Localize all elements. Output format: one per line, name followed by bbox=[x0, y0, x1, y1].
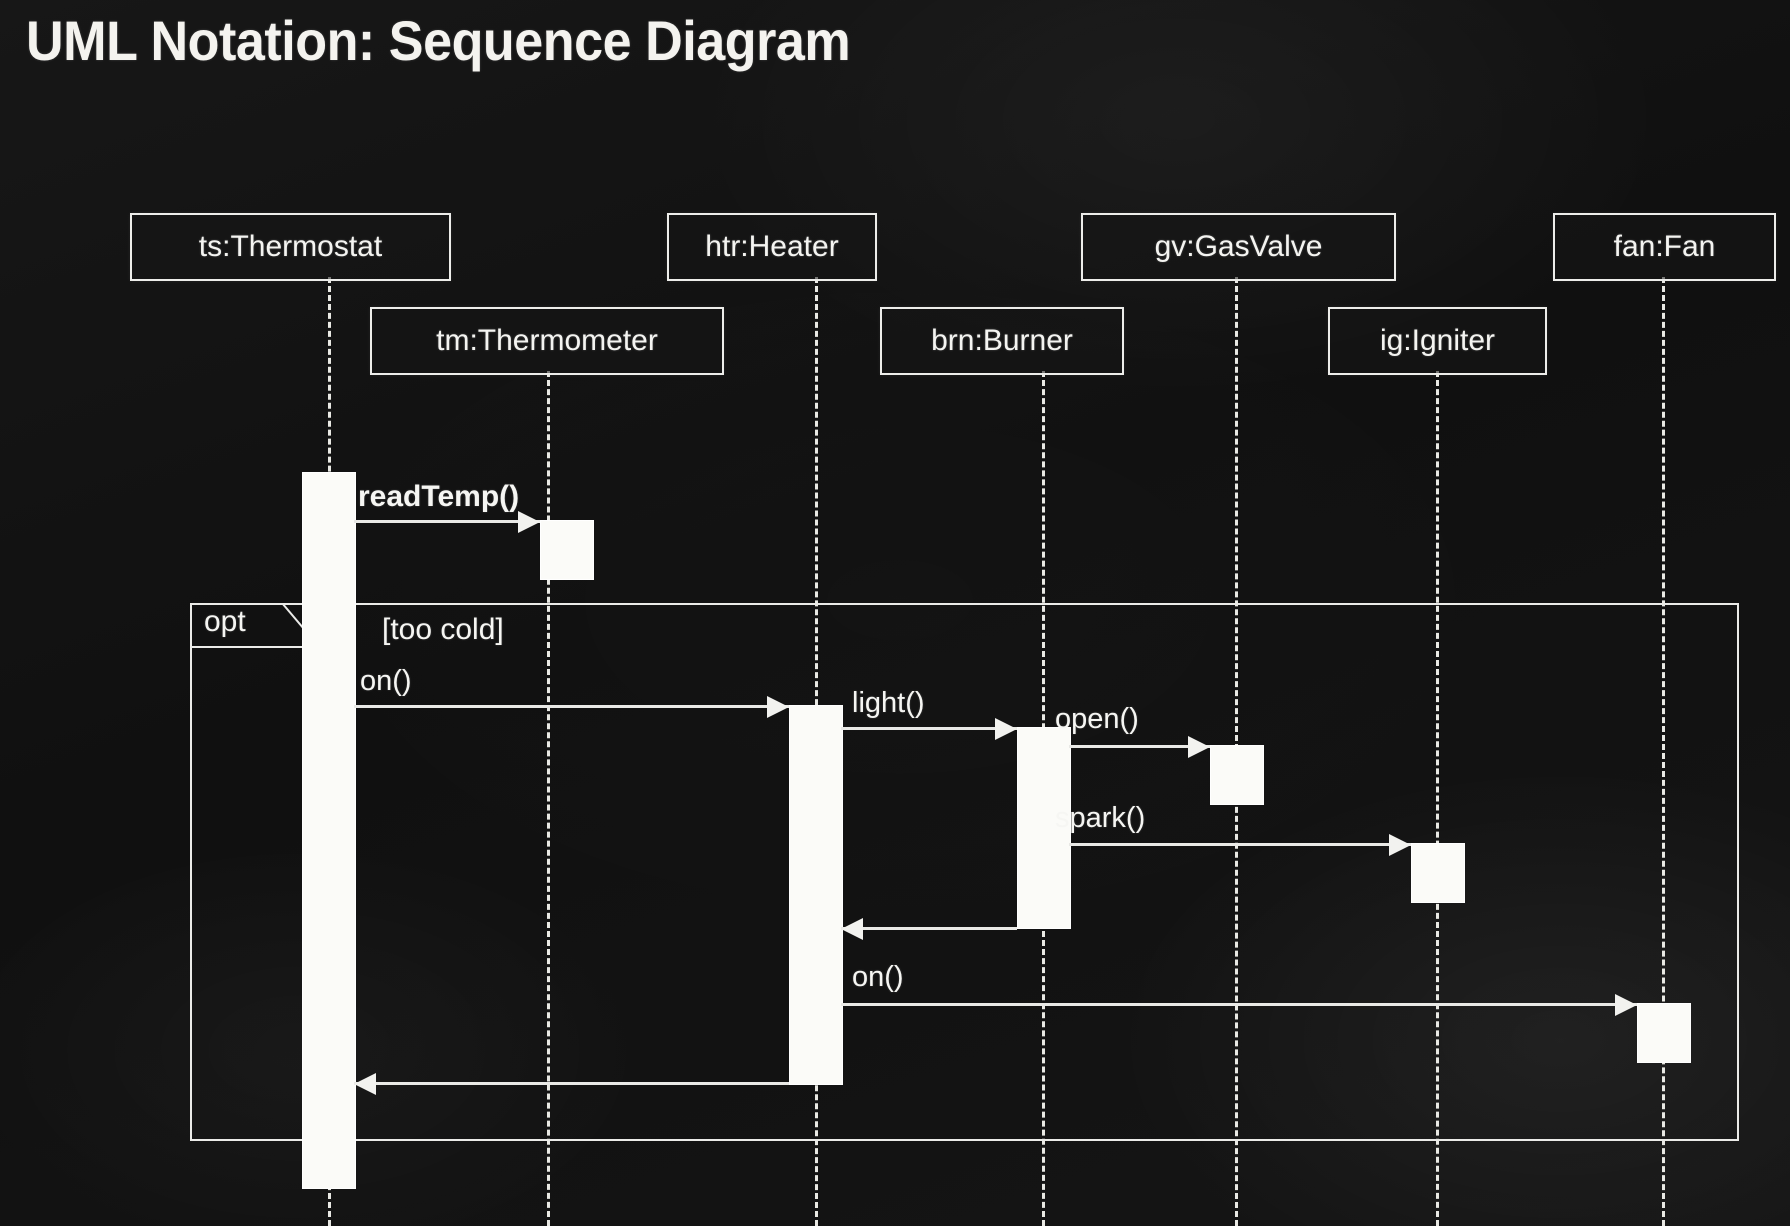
lifeline-head-fan[interactable]: fan:Fan bbox=[1553, 213, 1776, 281]
lifeline-label-gv: gv:GasValve bbox=[1155, 230, 1323, 264]
message-light-label: light() bbox=[852, 687, 925, 720]
activation-gv-open bbox=[1210, 745, 1264, 805]
message-open-arrowhead-right-icon bbox=[1188, 736, 1210, 758]
activation-ig-spark bbox=[1411, 843, 1465, 903]
lifeline-label-ts: ts:Thermostat bbox=[199, 230, 382, 264]
message-on-heater-arrowhead-right-icon bbox=[767, 696, 789, 718]
page-title: UML Notation: Sequence Diagram bbox=[26, 8, 850, 73]
lifeline-label-brn: brn:Burner bbox=[931, 324, 1073, 358]
lifeline-head-brn[interactable]: brn:Burner bbox=[880, 307, 1124, 375]
message-return-heater-thermostat-line bbox=[354, 1082, 789, 1085]
message-light-arrowhead-right-icon bbox=[995, 718, 1017, 740]
slide-canvas: UML Notation: Sequence Diagram opt[too c… bbox=[0, 0, 1790, 1226]
message-on-fan-label: on() bbox=[852, 961, 904, 994]
lifeline-head-ig[interactable]: ig:Igniter bbox=[1328, 307, 1547, 375]
lifeline-label-tm: tm:Thermometer bbox=[436, 324, 658, 358]
message-on-heater-line bbox=[354, 705, 789, 708]
message-on-fan-line bbox=[841, 1003, 1637, 1006]
message-readtemp-label: readTemp() bbox=[358, 480, 519, 514]
lifeline-head-htr[interactable]: htr:Heater bbox=[667, 213, 877, 281]
message-readtemp-line bbox=[354, 520, 540, 523]
message-spark-label: spark() bbox=[1055, 802, 1145, 835]
message-spark-line bbox=[1069, 843, 1411, 846]
message-spark-arrowhead-right-icon bbox=[1389, 834, 1411, 856]
lifeline-label-htr: htr:Heater bbox=[705, 230, 838, 264]
lifeline-head-tm[interactable]: tm:Thermometer bbox=[370, 307, 724, 375]
lifeline-label-ig: ig:Igniter bbox=[1380, 324, 1495, 358]
activation-tm-read bbox=[540, 520, 594, 580]
message-on-heater-label: on() bbox=[360, 665, 412, 698]
activation-htr-on bbox=[789, 705, 843, 1085]
message-readtemp-arrowhead-right-icon bbox=[518, 511, 540, 533]
message-on-fan-arrowhead-right-icon bbox=[1615, 994, 1637, 1016]
message-return-burner-heater-arrowhead-left-icon bbox=[841, 918, 863, 940]
message-light-line bbox=[841, 727, 1017, 730]
opt-fragment bbox=[190, 603, 1739, 1141]
message-return-heater-thermostat-arrowhead-left-icon bbox=[354, 1073, 376, 1095]
opt-fragment-operator: opt bbox=[204, 605, 246, 639]
message-return-burner-heater-line bbox=[841, 927, 1017, 930]
lifeline-head-gv[interactable]: gv:GasValve bbox=[1081, 213, 1396, 281]
lifeline-head-ts[interactable]: ts:Thermostat bbox=[130, 213, 451, 281]
activation-fan-on bbox=[1637, 1003, 1691, 1063]
opt-fragment-guard: [too cold] bbox=[382, 613, 504, 647]
lifeline-label-fan: fan:Fan bbox=[1614, 230, 1716, 264]
activation-ts-main bbox=[302, 472, 356, 1189]
message-open-label: open() bbox=[1055, 703, 1139, 736]
